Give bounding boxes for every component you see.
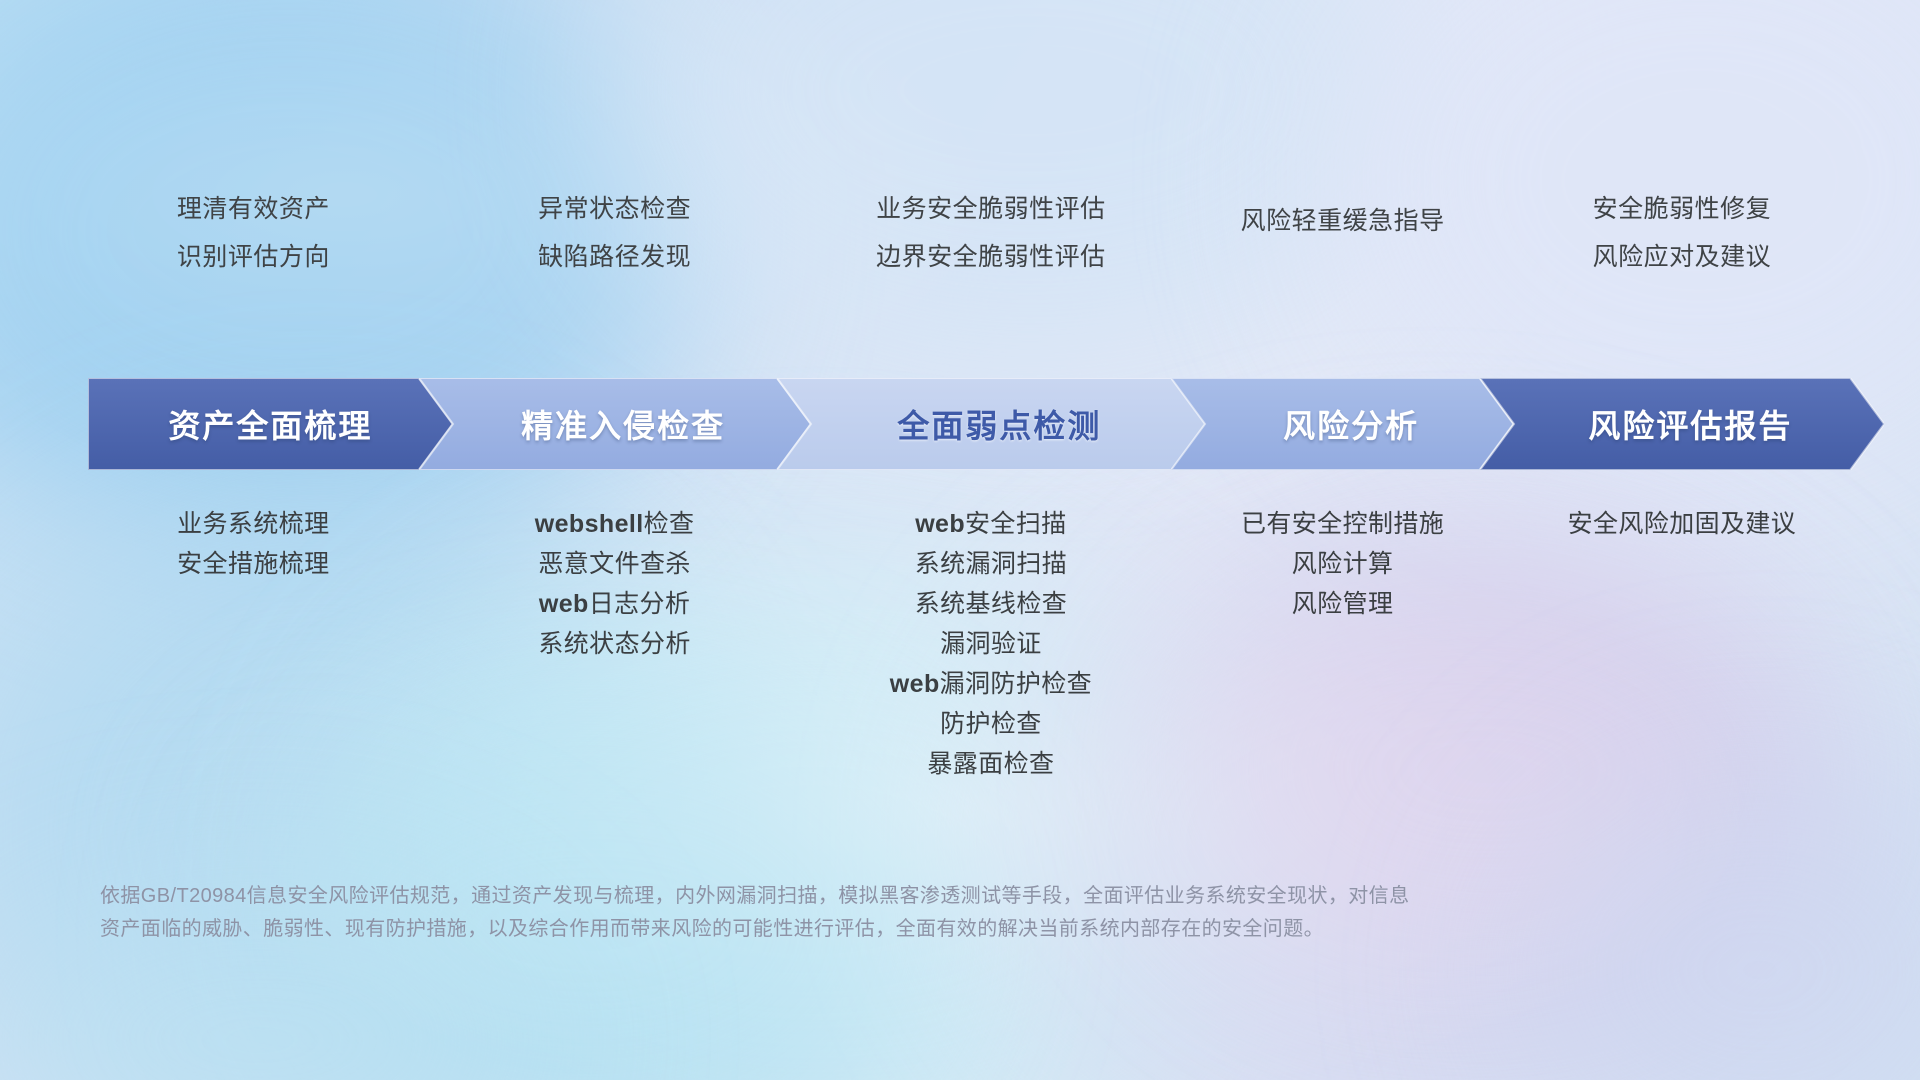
stage-arrow-label: 全面弱点检测 [897, 401, 1101, 447]
top-items-risk-analysis: 风险轻重缓急指导 [1188, 197, 1496, 245]
bottom-item: 安全风险加固及建议 [1497, 504, 1867, 544]
stage-arrow-weakness-detection[interactable]: 全面弱点检测 [777, 378, 1206, 470]
bottom-item: 风险计算 [1188, 544, 1496, 584]
footer-description: 依据GB/T20984信息安全风险评估规范，通过资产发现与梳理，内外网漏洞扫描，… [100, 880, 1820, 946]
stage-arrow-risk-report[interactable]: 风险评估报告 [1480, 378, 1884, 470]
stage-arrow-risk-analysis[interactable]: 风险分析 [1171, 378, 1513, 470]
footer-line-2: 资产面临的威胁、脆弱性、现有防护措施，以及综合作用而带来风险的可能性进行评估，全… [100, 913, 1820, 946]
top-items-intrusion-check: 异常状态检查缺陷路径发现 [436, 185, 794, 281]
bottom-item: 防护检查 [794, 704, 1189, 744]
stage-arrow-label: 风险评估报告 [1588, 401, 1792, 447]
bottom-item: web安全扫描 [794, 504, 1189, 544]
top-item: 安全脆弱性修复 [1497, 185, 1867, 233]
top-items-risk-report: 安全脆弱性修复风险应对及建议 [1497, 185, 1867, 281]
stage-arrow-asset-sorting[interactable]: 资产全面梳理 [88, 378, 453, 470]
top-item: 识别评估方向 [88, 233, 419, 281]
top-items-weakness-detection: 业务安全脆弱性评估边界安全脆弱性评估 [794, 185, 1189, 281]
bottom-item: 系统状态分析 [436, 624, 794, 664]
stage-arrow-label: 资产全面梳理 [168, 401, 372, 447]
bottom-items-asset-sorting: 业务系统梳理安全措施梳理 [88, 504, 419, 584]
bottom-items-risk-analysis: 已有安全控制措施风险计算风险管理 [1188, 504, 1496, 624]
bottom-item: 系统漏洞扫描 [794, 544, 1189, 584]
bottom-item: 已有安全控制措施 [1188, 504, 1496, 544]
top-item: 边界安全脆弱性评估 [794, 233, 1189, 281]
footer-line-1: 依据GB/T20984信息安全风险评估规范，通过资产发现与梳理，内外网漏洞扫描，… [100, 880, 1820, 913]
bottom-item: 风险管理 [1188, 584, 1496, 624]
bottom-item: 暴露面检查 [794, 744, 1189, 784]
bottom-item: 系统基线检查 [794, 584, 1189, 624]
bottom-items-intrusion-check: webshell检查恶意文件查杀web日志分析系统状态分析 [436, 504, 794, 664]
bottom-item: 恶意文件查杀 [436, 544, 794, 584]
bottom-item: 安全措施梳理 [88, 544, 419, 584]
top-item: 风险轻重缓急指导 [1188, 197, 1496, 245]
top-items-asset-sorting: 理清有效资产识别评估方向 [88, 185, 419, 281]
stage-arrow-label: 风险分析 [1283, 401, 1419, 447]
bottom-item: web漏洞防护检查 [794, 664, 1189, 704]
bottom-item: webshell检查 [436, 504, 794, 544]
stage-arrow-band: 资产全面梳理 精准入侵检查 全面弱点检测 [88, 378, 1850, 470]
bottom-items-risk-report: 安全风险加固及建议 [1497, 504, 1867, 544]
top-item: 业务安全脆弱性评估 [794, 185, 1189, 233]
top-item: 理清有效资产 [88, 185, 419, 233]
bottom-item: 业务系统梳理 [88, 504, 419, 544]
top-item: 风险应对及建议 [1497, 233, 1867, 281]
stage-arrow-intrusion-check[interactable]: 精准入侵检查 [419, 378, 811, 470]
bottom-item: web日志分析 [436, 584, 794, 624]
stage-arrow-label: 精准入侵检查 [521, 401, 725, 447]
bottom-items-weakness-detection: web安全扫描系统漏洞扫描系统基线检查漏洞验证web漏洞防护检查防护检查暴露面检… [794, 504, 1189, 784]
top-item: 缺陷路径发现 [436, 233, 794, 281]
top-item: 异常状态检查 [436, 185, 794, 233]
bottom-item: 漏洞验证 [794, 624, 1189, 664]
